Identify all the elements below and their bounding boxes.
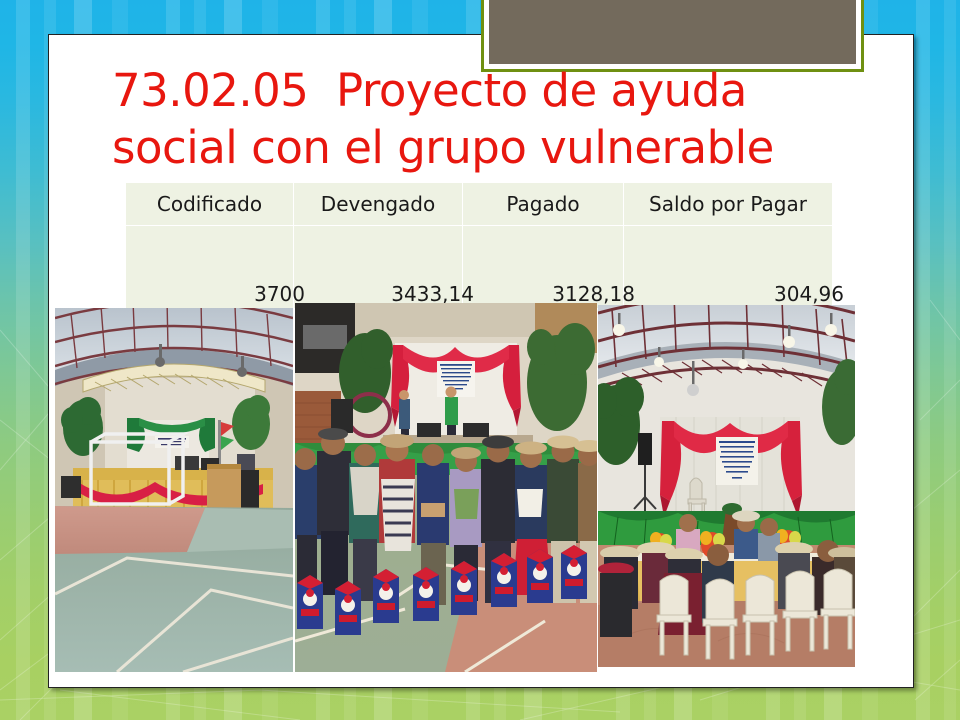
table-cell-codificado: 3700 xyxy=(126,226,294,309)
slide-canvas: 73.02.05 Proyecto de ayuda social con el… xyxy=(0,0,960,720)
table-header-codificado: Codificado xyxy=(126,183,294,226)
value-saldo-por-pagar: 304,96 xyxy=(774,282,844,306)
budget-table: Codificado Devengado Pagado Saldo por Pa… xyxy=(125,182,833,309)
table-header-saldo-por-pagar: Saldo por Pagar xyxy=(624,183,833,226)
table-row: 3700 3433,14 3128,18 304,96 xyxy=(126,226,833,309)
table-cell-devengado: 3433,14 xyxy=(294,226,463,309)
top-image-placeholder xyxy=(489,0,856,64)
page-title: 73.02.05 Proyecto de ayuda social con el… xyxy=(112,62,872,176)
photo-beneficiaries-with-gift-boxes xyxy=(295,303,597,672)
table-cell-saldo-por-pagar: 304,96 xyxy=(624,226,833,309)
table-cell-pagado: 3128,18 xyxy=(463,226,624,309)
table-header-devengado: Devengado xyxy=(294,183,463,226)
photo-banquet-hall-assembly xyxy=(598,305,855,667)
table-header-pagado: Pagado xyxy=(463,183,624,226)
photo-covered-court-stage xyxy=(55,308,293,672)
table-header-row: Codificado Devengado Pagado Saldo por Pa… xyxy=(126,183,833,226)
